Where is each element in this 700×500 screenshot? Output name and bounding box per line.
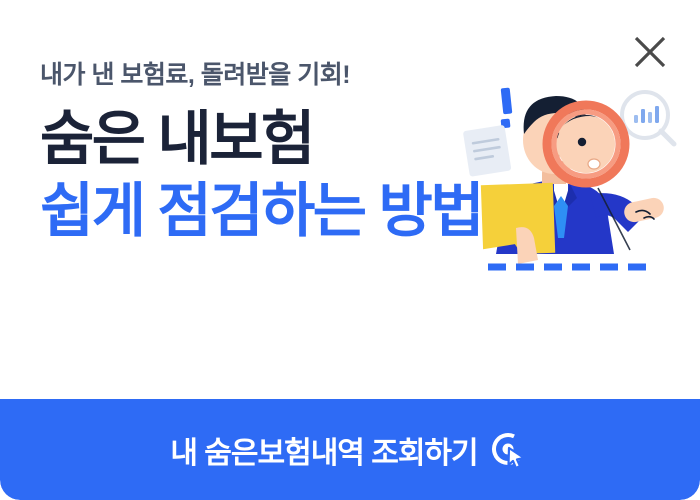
chart-magnifier-icon <box>622 92 674 144</box>
close-x-icon[interactable] <box>628 30 672 74</box>
headline-line-1: 숨은 내보험 <box>40 108 482 172</box>
click-cursor-target-icon[interactable] <box>490 430 530 470</box>
copy-block: 내가 낸 보험료, 돌려받을 기회! 숨은 내보험 쉽게 점검하는 방법 <box>40 60 482 243</box>
headline-line-2: 쉽게 점검하는 방법 <box>40 180 482 244</box>
illustration-businessman-with-magnifier <box>458 78 698 278</box>
close-button[interactable] <box>628 30 672 74</box>
cta-label: 내 숨은보험내역 조회하기 <box>170 428 477 472</box>
banner-subtitle: 내가 낸 보험료, 돌려받을 기회! <box>40 60 482 90</box>
exclamation-mark-icon <box>501 88 513 129</box>
promo-banner: 내가 낸 보험료, 돌려받을 기회! 숨은 내보험 쉽게 점검하는 방법 <box>0 0 700 500</box>
orange-magnifier-icon <box>546 104 626 184</box>
cta-button[interactable]: 내 숨은보험내역 조회하기 <box>0 399 700 500</box>
